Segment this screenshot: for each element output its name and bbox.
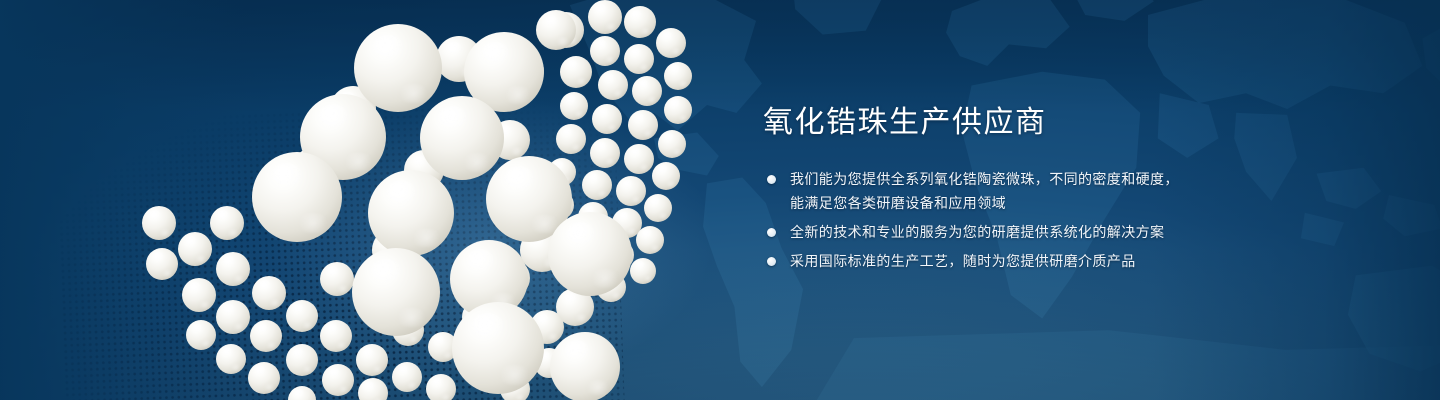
bullet-dot-icon: [767, 257, 776, 266]
bullet-dot-icon: [767, 175, 776, 184]
list-item: 我们能为您提供全系列氧化锆陶瓷微珠，不同的密度和硬度， 能满足您各类研磨设备和应…: [763, 167, 1233, 215]
list-item-line-2: 能满足您各类研磨设备和应用领域: [790, 191, 1233, 215]
banner-title: 氧化锆珠生产供应商: [763, 104, 1233, 142]
list-item-line-1: 采用国际标准的生产工艺，随时为您提供研磨介质产品: [790, 249, 1233, 273]
list-item-line-1: 全新的技术和专业的服务为您的研磨提供系统化的解决方案: [790, 220, 1233, 244]
list-item: 全新的技术和专业的服务为您的研磨提供系统化的解决方案: [763, 220, 1233, 244]
banner-copy: 氧化锆珠生产供应商 我们能为您提供全系列氧化锆陶瓷微珠，不同的密度和硬度， 能满…: [763, 104, 1233, 278]
list-item-line-1: 我们能为您提供全系列氧化锆陶瓷微珠，不同的密度和硬度，: [790, 167, 1233, 191]
hero-banner: 氧化锆珠生产供应商 我们能为您提供全系列氧化锆陶瓷微珠，不同的密度和硬度， 能满…: [0, 0, 1440, 400]
list-item: 采用国际标准的生产工艺，随时为您提供研磨介质产品: [763, 249, 1233, 273]
feature-list: 我们能为您提供全系列氧化锆陶瓷微珠，不同的密度和硬度， 能满足您各类研磨设备和应…: [763, 167, 1233, 273]
bullet-dot-icon: [767, 228, 776, 237]
